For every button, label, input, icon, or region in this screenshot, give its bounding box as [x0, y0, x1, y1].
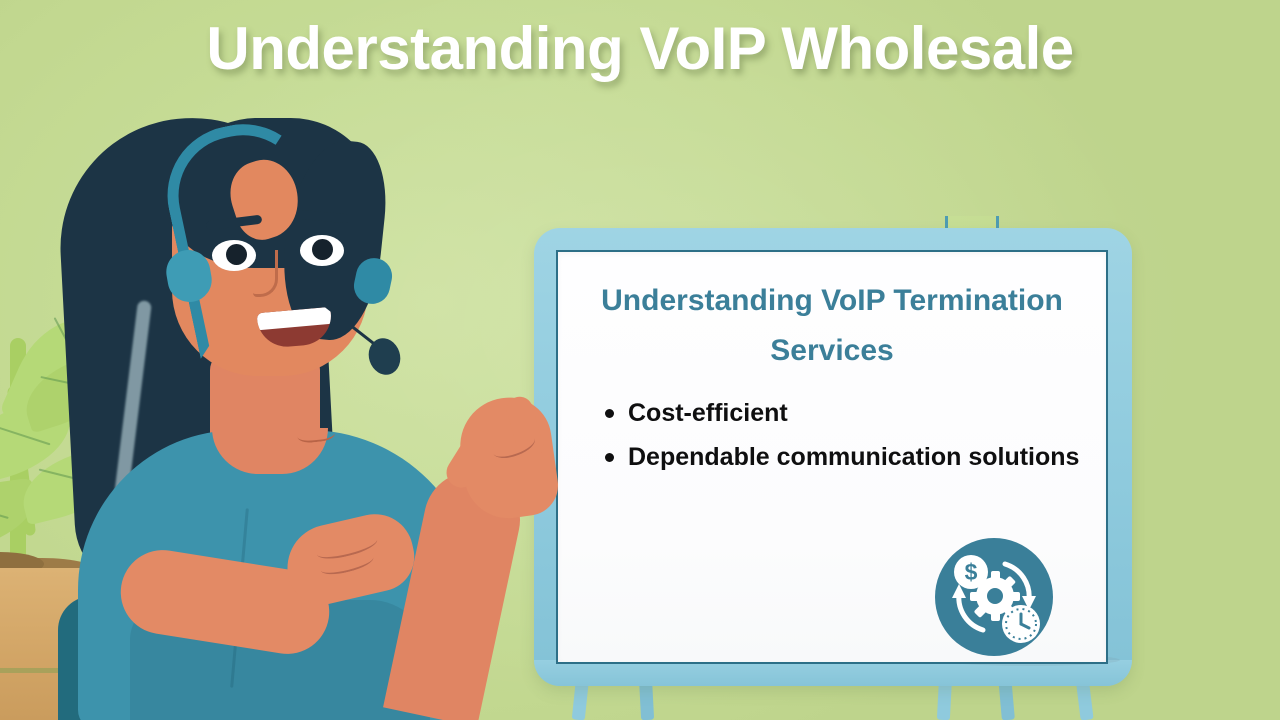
- list-item: Dependable communication solutions: [628, 436, 1098, 479]
- whiteboard-bullet-list: Cost-efficient Dependable communication …: [592, 392, 1098, 480]
- cost-efficiency-cycle-icon: $: [935, 538, 1053, 656]
- call-center-agent: [0, 0, 620, 720]
- whiteboard-heading: Understanding VoIP Termination Services: [576, 276, 1088, 376]
- slide-canvas: Understanding VoIP Wholesale Understandi…: [0, 0, 1280, 720]
- list-item: Cost-efficient: [628, 392, 1098, 435]
